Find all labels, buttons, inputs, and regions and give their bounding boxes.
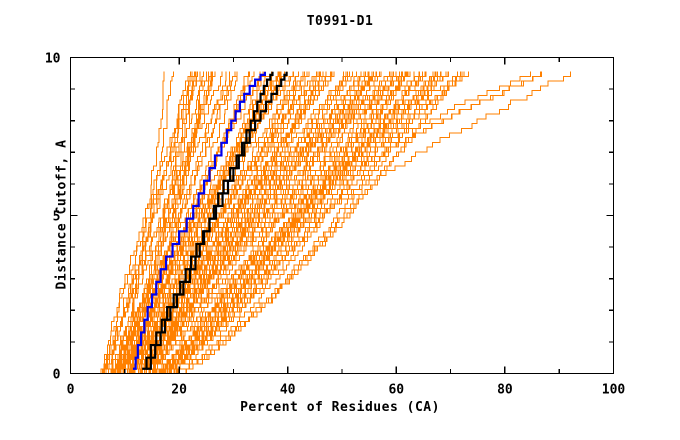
x-tick-label: 80 [497,383,513,398]
x-tick-label: 20 [171,383,187,398]
y-tick-label: 0 [53,368,61,383]
figure-root: T0991-D1 Percent of Residues (CA) Distan… [0,0,680,440]
x-tick-label: 40 [280,383,296,398]
ensemble-curves [99,72,571,374]
x-tick-label: 0 [67,383,75,398]
plot-canvas: 0204060801000510 [0,0,680,440]
x-tick-label: 100 [602,383,626,398]
y-tick-label: 5 [53,210,61,225]
y-tick-label: 10 [45,52,61,67]
x-tick-label: 60 [388,383,404,398]
